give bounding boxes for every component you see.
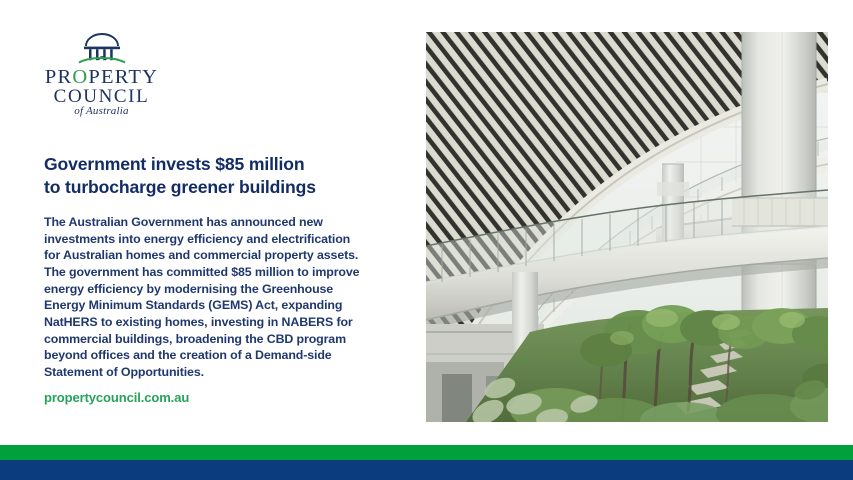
headline-line-2: to turbocharge greener buildings xyxy=(44,176,394,199)
classical-portico-icon xyxy=(76,33,128,66)
body-paragraph: The Australian Government has announced … xyxy=(44,214,392,381)
logo-text-of-australia: of Australia xyxy=(44,106,159,117)
body-line: NatHERS to existing homes, investing in … xyxy=(44,314,392,331)
body-line: for Australian homes and commercial prop… xyxy=(44,247,392,264)
body-line: commercial buildings, broadening the CBD… xyxy=(44,331,392,348)
body-line: Energy Minimum Standards (GEMS) Act, exp… xyxy=(44,297,392,314)
body-line: investments into energy efficiency and e… xyxy=(44,231,392,248)
body-line: The government has committed $85 million… xyxy=(44,264,392,281)
logo-wordmark: PROPERTY COUNCIL of Australia xyxy=(44,67,159,117)
headline-line-1: Government invests $85 million xyxy=(44,153,394,176)
footer-green-bar xyxy=(0,445,853,460)
body-line: beyond offices and the creation of a Dem… xyxy=(44,347,392,364)
page-title: Government invests $85 million to turboc… xyxy=(44,153,394,198)
photo-illustration xyxy=(426,32,828,422)
body-line: The Australian Government has announced … xyxy=(44,214,392,231)
body-line: energy efficiency by modernising the Gre… xyxy=(44,281,392,298)
logo-text-property: PROPERTY xyxy=(44,67,159,88)
footer-navy-bar xyxy=(0,460,853,480)
logo-text-council: COUNCIL xyxy=(44,87,159,106)
property-council-logo: PROPERTY COUNCIL of Australia xyxy=(44,33,159,117)
slide-canvas: PROPERTY COUNCIL of Australia Government… xyxy=(0,0,853,480)
logo-green-o: O xyxy=(72,66,88,88)
body-line: Statement of Opportunities. xyxy=(44,364,392,381)
green-building-walkway-photo xyxy=(426,32,828,422)
website-url-link[interactable]: propertycouncil.com.au xyxy=(44,390,189,405)
